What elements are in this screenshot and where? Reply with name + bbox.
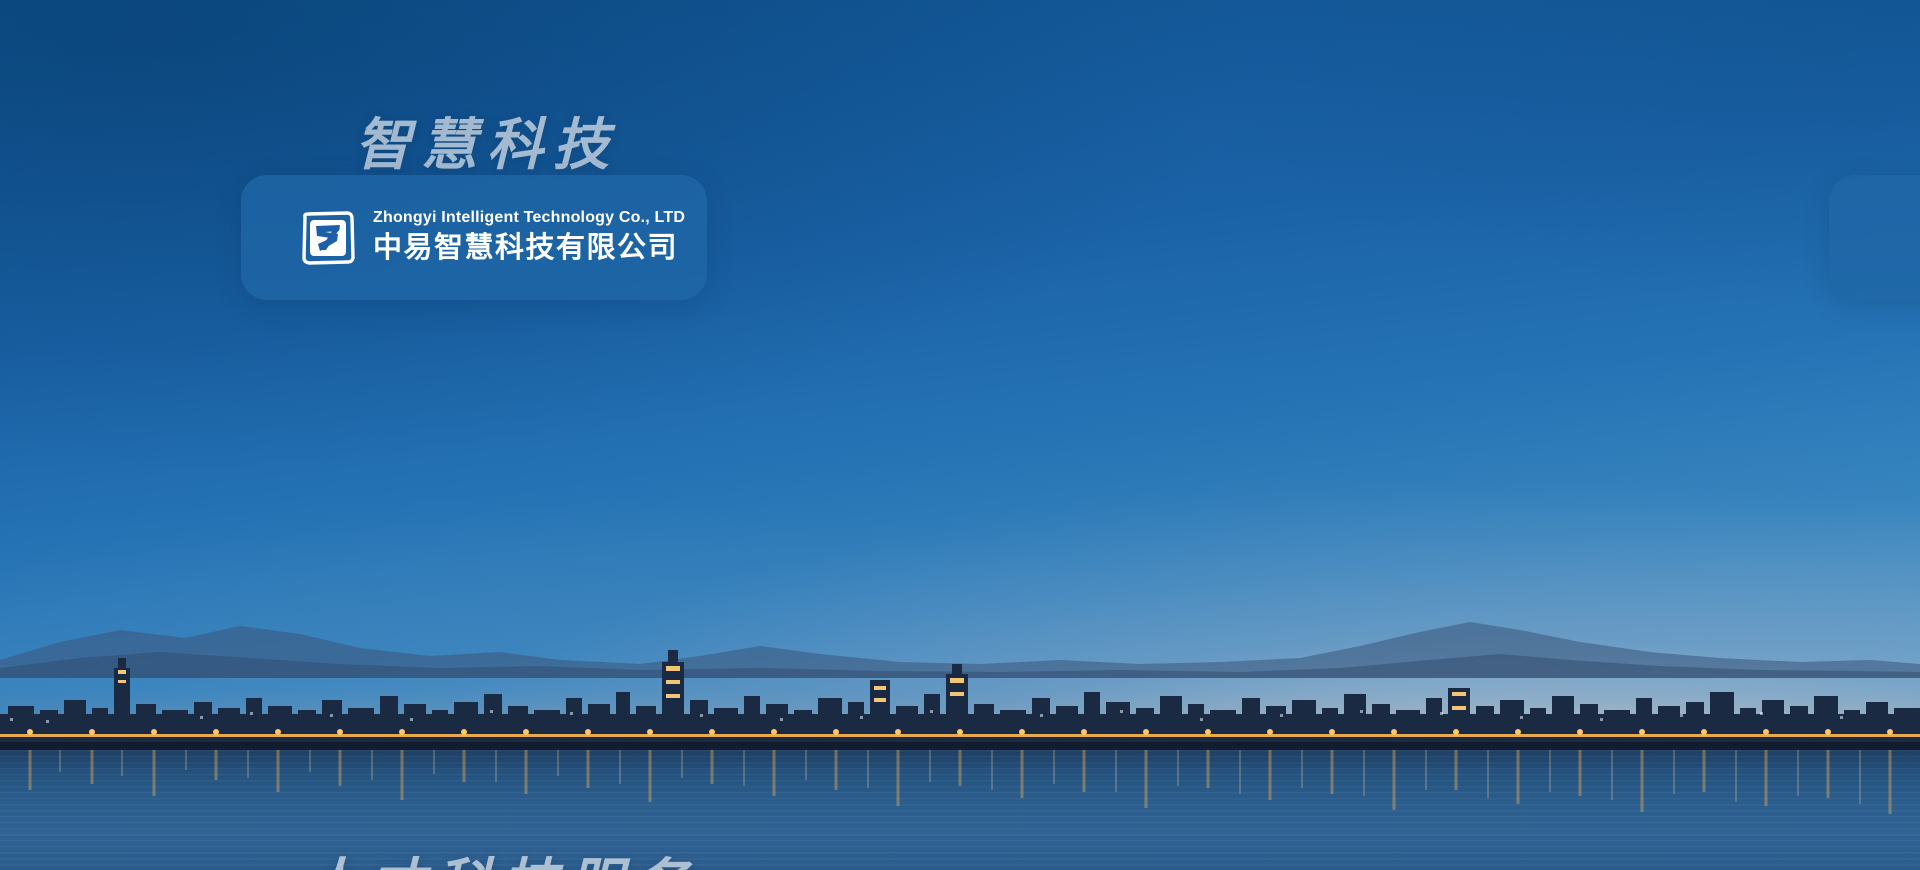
company-name-en: Zhongyi Intelligent Technology Co., LTD: [373, 208, 685, 229]
sector-title-smart-technology: 智慧科技: [355, 100, 619, 181]
sector-title-talent-technology-services: 人才科技服务: [303, 840, 699, 870]
sector-smart-technology: 智慧科技 Zhongyi Intelligent Technology Co.,…: [0, 0, 960, 435]
sector-fmcg: 快消品 砚 香 R Yanxiang trading Co., LTD 砚香贸易…: [960, 0, 1920, 435]
sector-talent-technology-services: 人才科技服务 NY Any technology development Co.…: [0, 435, 960, 870]
company-card-yanxiang-trading[interactable]: 砚 香 R Yanxiang trading Co., LTD 砚香贸易有限公司: [1829, 175, 1920, 300]
company-name-cn: 中易智慧科技有限公司: [373, 228, 685, 267]
sector-real-estate-development: 房地产开发 Yanxiang real estate development C…: [960, 435, 1920, 870]
business-sectors-grid: 智慧科技 Zhongyi Intelligent Technology Co.,…: [0, 0, 1920, 870]
zhongyi-logo: [301, 211, 355, 265]
company-card-zhongyi[interactable]: Zhongyi Intelligent Technology Co., LTD …: [241, 175, 707, 300]
company-names-zhongyi: Zhongyi Intelligent Technology Co., LTD …: [373, 208, 685, 268]
